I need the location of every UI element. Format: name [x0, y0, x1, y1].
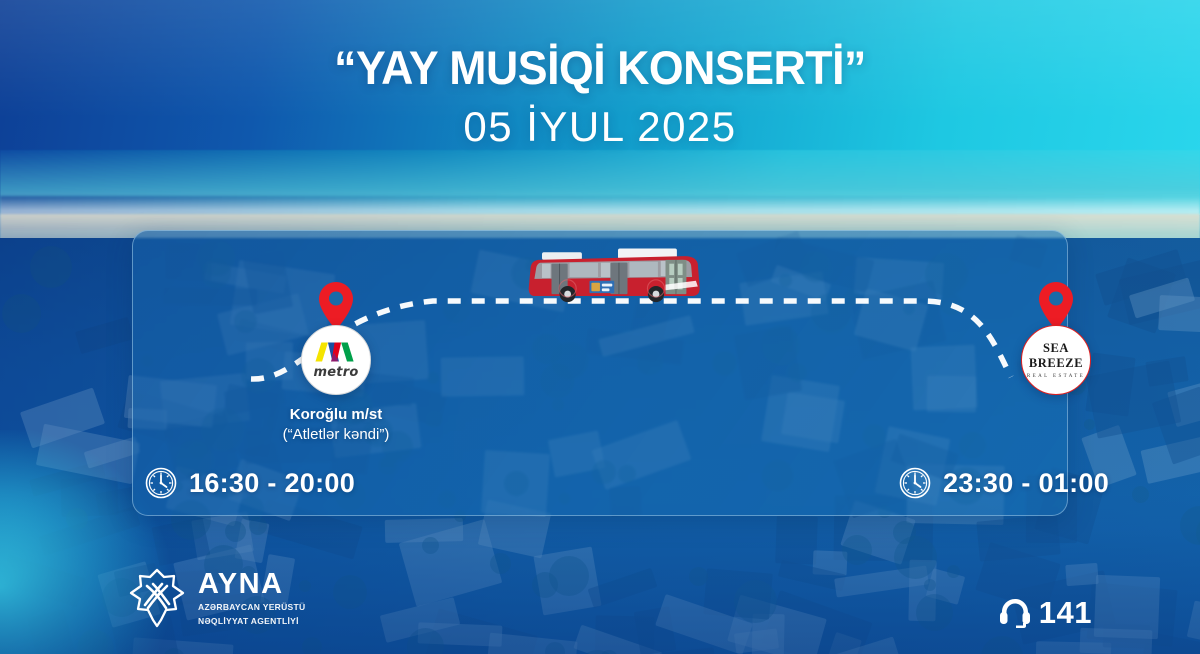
clock-icon [144, 466, 178, 500]
clock-icon [898, 466, 932, 500]
bus-illustration [523, 246, 713, 308]
sea-breeze-logo-badge: SEA BREEZE REAL ESTATE [1021, 325, 1091, 395]
metro-logo-text: metro [314, 365, 359, 380]
hotline-number: 141 [1039, 595, 1092, 631]
ayna-brand-lockup: AYNA AZƏRBAYCAN YERÜSTÜ NƏQLİYYAT AGENTL… [128, 568, 305, 628]
stop-subname-koroglu: (“Atletlər kəndi”) [241, 425, 431, 445]
headset-icon [998, 597, 1032, 629]
event-date: 05 İYUL 2025 [0, 103, 1200, 151]
ayna-brand-name: AYNA [198, 570, 305, 599]
map-pin-icon [317, 281, 355, 331]
departure-time-koroglu: 16:30 - 20:00 [144, 466, 355, 500]
time-value-sea-breeze: 23:30 - 01:00 [943, 468, 1109, 499]
sea-breeze-logo-subtext: REAL ESTATE [1027, 374, 1085, 379]
hotline-block[interactable]: 141 [998, 595, 1092, 631]
ayna-logo-icon [128, 568, 186, 628]
metro-logo-icon [314, 340, 358, 364]
metro-logo-badge: metro [301, 325, 371, 395]
route-stop-koroglu[interactable]: metro Koroğlu m/st (“Atletlər kəndi”) [241, 281, 431, 444]
sea-breeze-logo-text: SEA BREEZE [1022, 341, 1090, 371]
departure-time-sea-breeze: 23:30 - 01:00 [898, 466, 1109, 500]
stop-name-koroglu: Koroğlu m/st [241, 406, 431, 425]
map-pin-icon [1037, 281, 1075, 331]
ayna-brand-subtitle-line1: AZƏRBAYCAN YERÜSTÜ [198, 602, 305, 613]
ayna-brand-subtitle-line2: NƏQLİYYAT AGENTLİYİ [198, 616, 305, 627]
route-stop-sea-breeze[interactable]: SEA BREEZE REAL ESTATE [961, 281, 1151, 406]
time-value-koroglu: 16:30 - 20:00 [189, 468, 355, 499]
poster-canvas: “YAY MUSİQİ KONSERTİ” 05 İYUL 2025 [0, 0, 1200, 654]
poster-header: “YAY MUSİQİ KONSERTİ” 05 İYUL 2025 [0, 44, 1200, 151]
page-title: “YAY MUSİQİ KONSERTİ” [30, 44, 1170, 92]
